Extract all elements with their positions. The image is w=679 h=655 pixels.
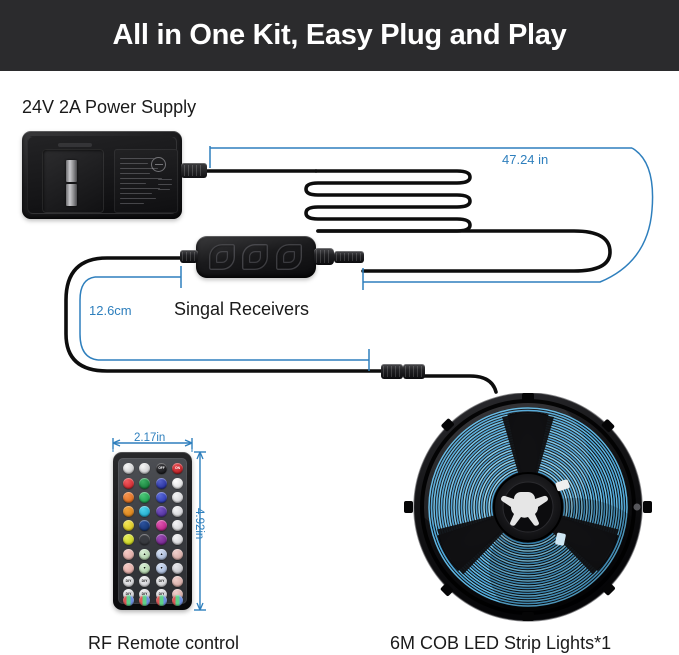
- color-key-white[interactable]: [172, 478, 183, 489]
- rf-remote-control[interactable]: OFF ON: [113, 452, 192, 610]
- brightness-up-button[interactable]: [123, 463, 134, 474]
- cable-splitter-connector-a: [381, 364, 403, 379]
- color-key-green2[interactable]: [139, 492, 150, 503]
- receiver-emboss-leaf-3: [276, 244, 302, 270]
- rf-remote-caption: RF Remote control: [88, 633, 239, 654]
- dimension-47in-label: 47.24 in: [502, 152, 548, 167]
- color-key-amber[interactable]: [123, 506, 134, 517]
- red-down-button[interactable]: [123, 563, 134, 574]
- cable-splitter-connector-b: [403, 364, 425, 379]
- signal-receivers-label: Singal Receivers: [174, 299, 309, 320]
- green-down-button[interactable]: ▼: [139, 563, 150, 574]
- product-infographic: All in One Kit, Easy Plug and Play: [0, 0, 679, 655]
- dimension-remote-width-label: 2.17in: [134, 432, 165, 444]
- signal-receiver-module: [196, 236, 316, 278]
- color-key-orange[interactable]: [123, 492, 134, 503]
- color-key-blue[interactable]: [156, 478, 167, 489]
- color-key-green[interactable]: [139, 478, 150, 489]
- power-on-button[interactable]: ON: [172, 463, 183, 474]
- blue-down-button[interactable]: ▼: [156, 563, 167, 574]
- color-key-red[interactable]: [123, 478, 134, 489]
- dimension-126cm-label: 12.6cm: [89, 303, 132, 318]
- receiver-output-connector-female: [334, 251, 364, 263]
- diy2-button[interactable]: DIY: [139, 576, 150, 587]
- strip-lead-cable: [424, 376, 496, 392]
- flash-mode-button[interactable]: [123, 595, 134, 606]
- power-supply-label: 24V 2A Power Supply: [22, 97, 196, 118]
- speed-down-button[interactable]: [172, 506, 183, 517]
- power-off-button[interactable]: OFF: [156, 463, 167, 474]
- mode-button[interactable]: [172, 520, 183, 531]
- smooth-mode-button[interactable]: [172, 595, 183, 606]
- psu-top-notch: [58, 143, 92, 147]
- color-key-yellow[interactable]: [123, 520, 134, 531]
- color-key-navy[interactable]: [139, 520, 150, 531]
- blue-up-button[interactable]: ▲: [156, 549, 167, 560]
- setting-button[interactable]: [172, 534, 183, 545]
- color-key-darkblue[interactable]: [139, 534, 150, 545]
- color-key-purple[interactable]: [156, 506, 167, 517]
- power-supply-brick: [22, 131, 182, 219]
- color-key-magenta[interactable]: [156, 520, 167, 531]
- quick-button[interactable]: [172, 549, 183, 560]
- diy3-button[interactable]: DIY: [156, 576, 167, 587]
- led-strip-caption: 6M COB LED Strip Lights*1: [390, 633, 611, 654]
- receiver-input-connector: [180, 250, 198, 263]
- banner-title: All in One Kit, Easy Plug and Play: [113, 19, 567, 52]
- header-banner: All in One Kit, Easy Plug and Play: [0, 0, 679, 71]
- slow-button[interactable]: [172, 563, 183, 574]
- color-key-lime[interactable]: [123, 534, 134, 545]
- strobe-mode-button[interactable]: [139, 595, 150, 606]
- brightness-down-button[interactable]: [139, 463, 150, 474]
- ac-prong-neutral: [66, 184, 77, 206]
- auto-button[interactable]: [172, 576, 183, 587]
- remote-faceplate: OFF ON: [118, 458, 187, 604]
- diy1-button[interactable]: DIY: [123, 576, 134, 587]
- remote-keypad: OFF ON: [118, 458, 187, 604]
- ac-prong-live: [66, 160, 77, 182]
- color-key-blue2[interactable]: [156, 492, 167, 503]
- red-up-button[interactable]: [123, 549, 134, 560]
- speed-up-button[interactable]: [172, 492, 183, 503]
- fade-mode-button[interactable]: [156, 595, 167, 606]
- dimension-remote-height-label: 4.92in: [193, 508, 205, 539]
- color-key-cyan[interactable]: [139, 506, 150, 517]
- dc-output-jack: [181, 163, 207, 178]
- receiver-emboss-leaf-1: [209, 244, 235, 270]
- green-up-button[interactable]: ▲: [139, 549, 150, 560]
- psu-body: [27, 136, 177, 214]
- color-key-violet[interactable]: [156, 534, 167, 545]
- ac-prong-plate: [42, 149, 104, 213]
- receiver-emboss-leaf-2: [242, 244, 268, 270]
- psu-spec-label: [114, 149, 178, 213]
- led-strip-reel: [404, 393, 652, 622]
- receiver-output-connector-male: [314, 248, 334, 265]
- ce-certification-icon: [151, 157, 166, 172]
